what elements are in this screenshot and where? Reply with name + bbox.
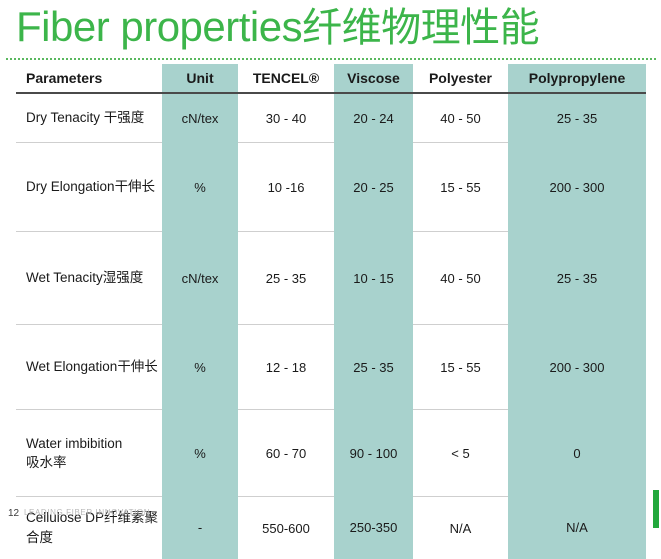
cell-viscose: 10 - 15 xyxy=(334,232,413,325)
cell-polyester: 40 - 50 xyxy=(413,93,508,143)
column-header-parameters: Parameters xyxy=(16,64,162,93)
parameter-label-cn: 干强度 xyxy=(104,110,145,126)
cell-polyester: < 5 xyxy=(413,410,508,497)
cell-parameter: Water imbibition吸水率 xyxy=(16,410,162,497)
table-header-row: Parameters Unit TENCEL® Viscose Polyeste… xyxy=(16,64,646,93)
cell-polypropylene: 200 - 300 xyxy=(508,325,646,410)
cell-viscose: 90 - 100 xyxy=(334,410,413,497)
cell-tencel: 25 - 35 xyxy=(238,232,334,325)
brand-tagline: LEADING FIBER INNOVATION xyxy=(24,508,150,517)
page-title-english: Fiber properties xyxy=(16,3,302,50)
cell-viscose: 20 - 24 xyxy=(334,93,413,143)
parameter-label-en: Dry Tenacity xyxy=(26,110,104,125)
cell-unit: cN/tex xyxy=(162,93,238,143)
cell-polyester: 15 - 55 xyxy=(413,325,508,410)
page-title: Fiber properties纤维物理性能 xyxy=(16,0,539,57)
column-header-unit: Unit xyxy=(162,64,238,93)
cell-polypropylene: 25 - 35 xyxy=(508,93,646,143)
cell-polypropylene: 0 xyxy=(508,410,646,497)
parameter-label-cn: 干伸长 xyxy=(115,179,156,195)
cell-viscose: 25 - 35 xyxy=(334,325,413,410)
table-row: Dry Elongation干伸长 % 10 -16 20 - 25 15 - … xyxy=(16,143,646,232)
cell-parameter: Cellulose DP纤维素聚合度 xyxy=(16,497,162,559)
cell-polyester: N/A xyxy=(413,497,508,559)
column-header-polypropylene: Polypropylene xyxy=(508,64,646,93)
column-header-polyester: Polyester xyxy=(413,64,508,93)
cell-unit: cN/tex xyxy=(162,232,238,325)
right-edge-accent-bar xyxy=(653,490,659,528)
parameter-label-en: Water imbibition xyxy=(26,436,122,451)
column-header-tencel: TENCEL® xyxy=(238,64,334,93)
cell-polypropylene: 200 - 300 xyxy=(508,143,646,232)
table-row: Water imbibition吸水率 % 60 - 70 90 - 100 <… xyxy=(16,410,646,497)
parameter-label-cn: 吸水率 xyxy=(26,455,67,471)
cell-unit: % xyxy=(162,143,238,232)
page-number: 12 xyxy=(8,508,19,519)
cell-tencel: 60 - 70 xyxy=(238,410,334,497)
parameter-label-en: Wet Tenacity xyxy=(26,270,103,285)
cell-polyester: 15 - 55 xyxy=(413,143,508,232)
parameter-label-cn: 湿强度 xyxy=(103,270,144,286)
parameter-label-en: Dry Elongation xyxy=(26,179,115,194)
cell-tencel: 12 - 18 xyxy=(238,325,334,410)
table-row: Cellulose DP纤维素聚合度 - 550-600 250-350 N/A… xyxy=(16,497,646,559)
fiber-properties-table: Parameters Unit TENCEL® Viscose Polyeste… xyxy=(16,64,646,559)
cell-viscose: 250-350 xyxy=(334,497,413,559)
cell-unit: % xyxy=(162,325,238,410)
parameter-label-en: Wet Elongation xyxy=(26,359,117,374)
cell-tencel: 550-600 xyxy=(238,497,334,559)
title-divider xyxy=(6,58,656,60)
column-header-viscose: Viscose xyxy=(334,64,413,93)
cell-tencel: 30 - 40 xyxy=(238,93,334,143)
table-row: Wet Tenacity湿强度 cN/tex 25 - 35 10 - 15 4… xyxy=(16,232,646,325)
parameter-label-cn: 干伸长 xyxy=(117,359,158,375)
cell-parameter: Dry Elongation干伸长 xyxy=(16,143,162,232)
cell-viscose: 20 - 25 xyxy=(334,143,413,232)
cell-tencel: 10 -16 xyxy=(238,143,334,232)
cell-polypropylene: 25 - 35 xyxy=(508,232,646,325)
table-row: Wet Elongation干伸长 % 12 - 18 25 - 35 15 -… xyxy=(16,325,646,410)
cell-unit: - xyxy=(162,497,238,559)
cell-parameter: Wet Tenacity湿强度 xyxy=(16,232,162,325)
cell-polypropylene: N/A xyxy=(508,497,646,559)
cell-polyester: 40 - 50 xyxy=(413,232,508,325)
cell-unit: % xyxy=(162,410,238,497)
page-title-chinese: 纤维物理性能 xyxy=(302,5,539,51)
table-row: Dry Tenacity 干强度 cN/tex 30 - 40 20 - 24 … xyxy=(16,93,646,143)
cell-parameter: Dry Tenacity 干强度 xyxy=(16,93,162,143)
cell-parameter: Wet Elongation干伸长 xyxy=(16,325,162,410)
